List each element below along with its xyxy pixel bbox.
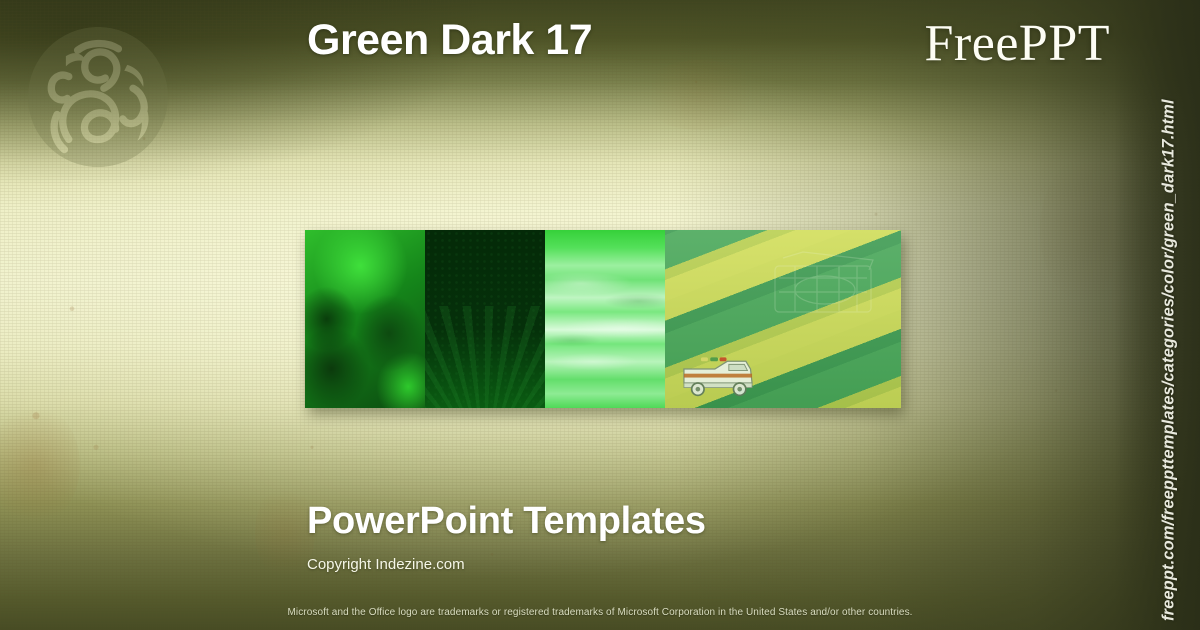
template-thumbnail-strip	[305, 230, 901, 408]
copyright-text: Copyright Indezine.com	[307, 556, 465, 573]
page-title: Green Dark 17	[307, 16, 592, 65]
thumbnail-green-cloud-blur[interactable]	[305, 230, 425, 408]
vertical-url-container: freeppt.com/freeppttemplates/categories/…	[1138, 0, 1200, 630]
ambulance-van-icon	[679, 352, 757, 400]
thumbnail-green-stripes-van[interactable]	[665, 230, 901, 408]
source-url-text[interactable]: freeppt.com/freeppttemplates/categories/…	[1159, 9, 1180, 621]
ghost-outline-graphic	[769, 248, 889, 338]
page-subtitle: PowerPoint Templates	[307, 500, 706, 543]
brand-logo: FreePPT	[925, 14, 1111, 73]
spiral-ornament-icon	[25, 24, 171, 170]
thumbnail-dark-green-burst[interactable]	[425, 230, 545, 408]
trademark-disclaimer: Microsoft and the Office logo are tradem…	[0, 607, 1200, 618]
thumbnail-light-green-wisp[interactable]	[545, 230, 665, 408]
slide-preview-canvas: Green Dark 17 FreePPT	[0, 0, 1200, 630]
